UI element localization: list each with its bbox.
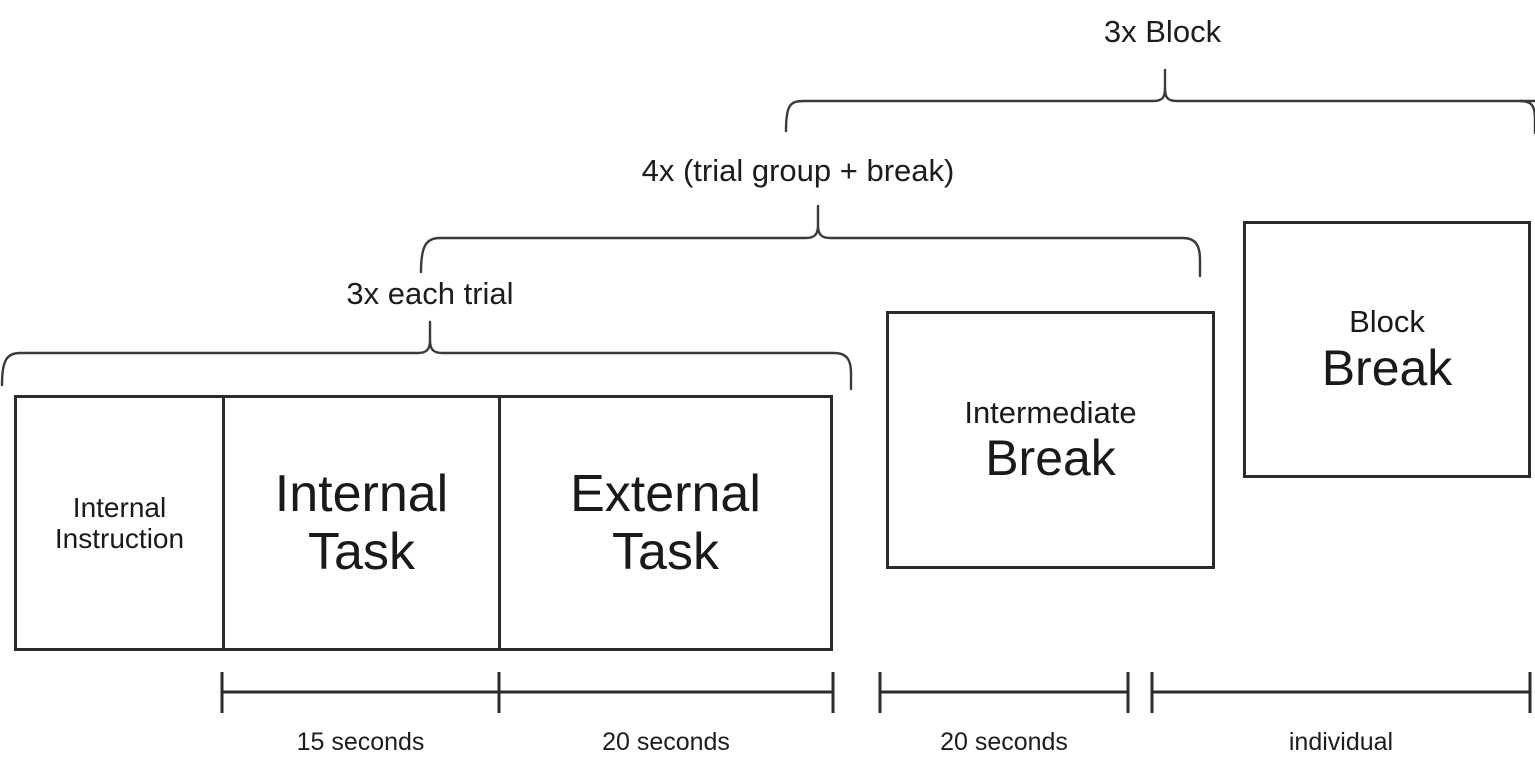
scale-label-intermediate-break-duration: 20 seconds [880, 730, 1128, 755]
scale-label-external-task-duration: 20 seconds [499, 730, 833, 755]
timing-scale-rules [0, 0, 1535, 768]
diagram-canvas: 3x Block 4x (trial group + break) 3x eac… [0, 0, 1535, 768]
scale-label-block-break-duration: individual [1152, 730, 1530, 755]
scale-label-internal-task-duration: 15 seconds [222, 730, 499, 755]
